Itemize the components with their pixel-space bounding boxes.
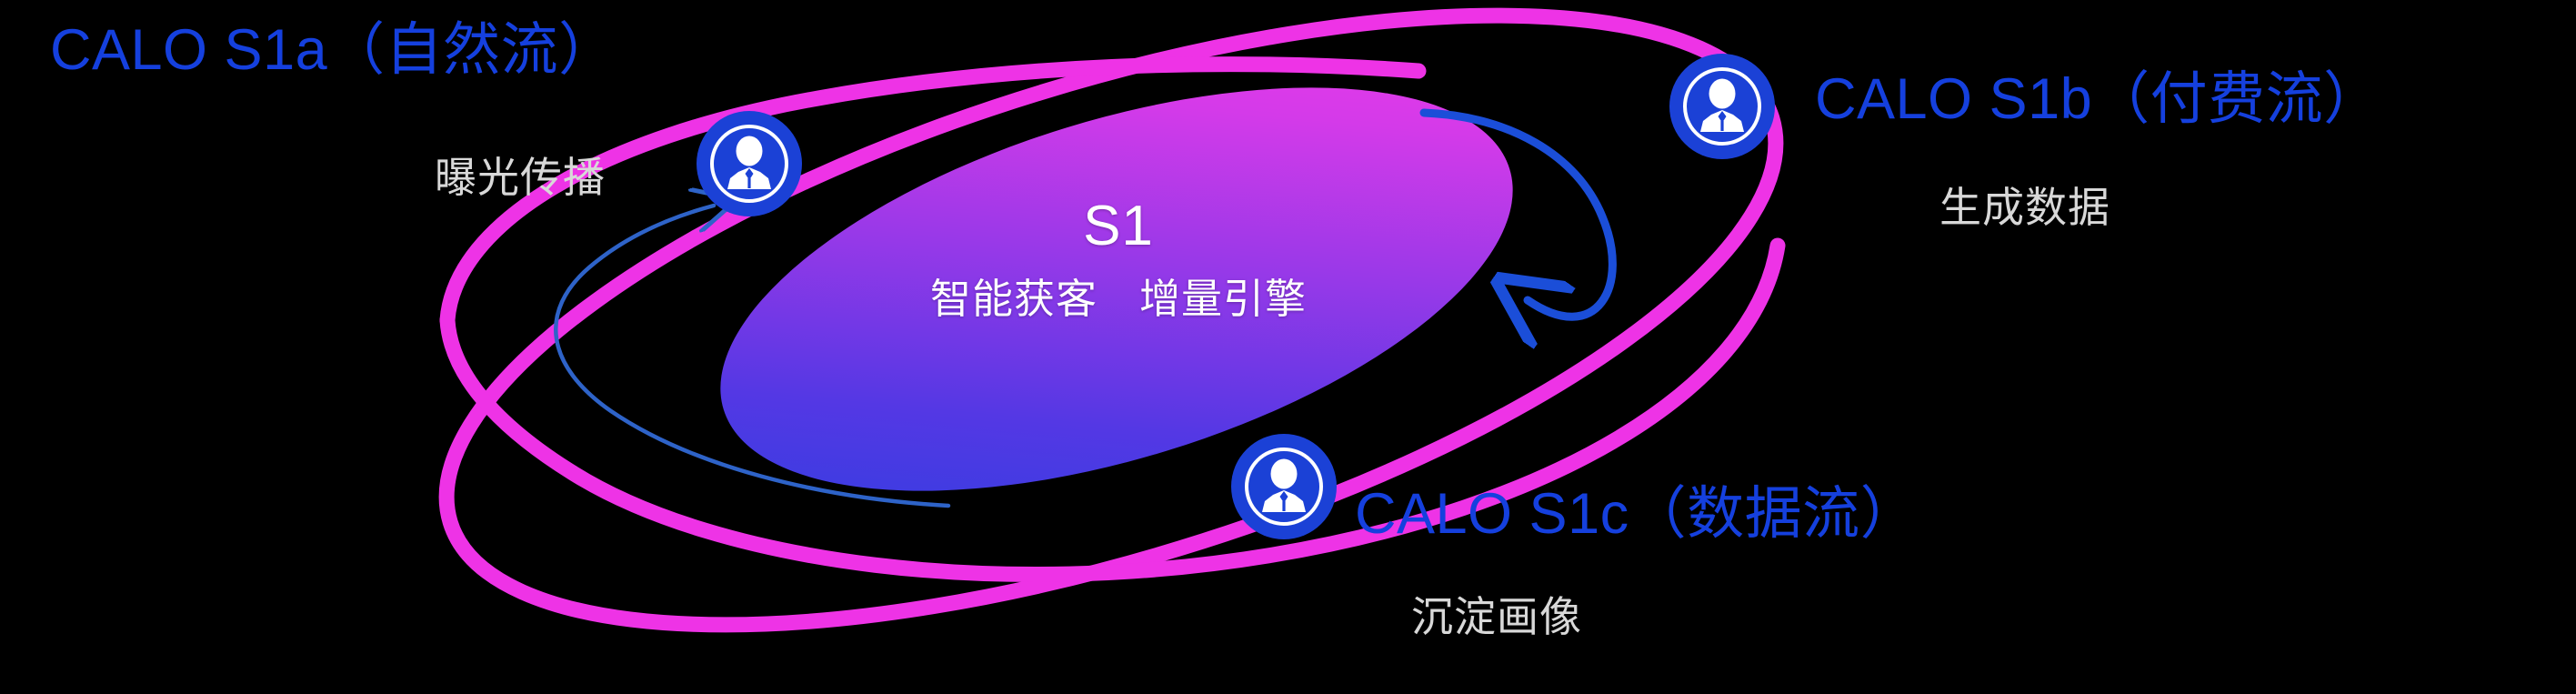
node-s1c[interactable] [1231,434,1337,539]
diagram-canvas: S1 智能获客 增量引擎 CALO S1a（自然流） 曝光传播 CALO S1b… [0,0,2576,694]
node-s1a[interactable] [697,111,802,216]
node-s1b[interactable] [1669,54,1775,159]
diagram-svg [0,0,2576,694]
